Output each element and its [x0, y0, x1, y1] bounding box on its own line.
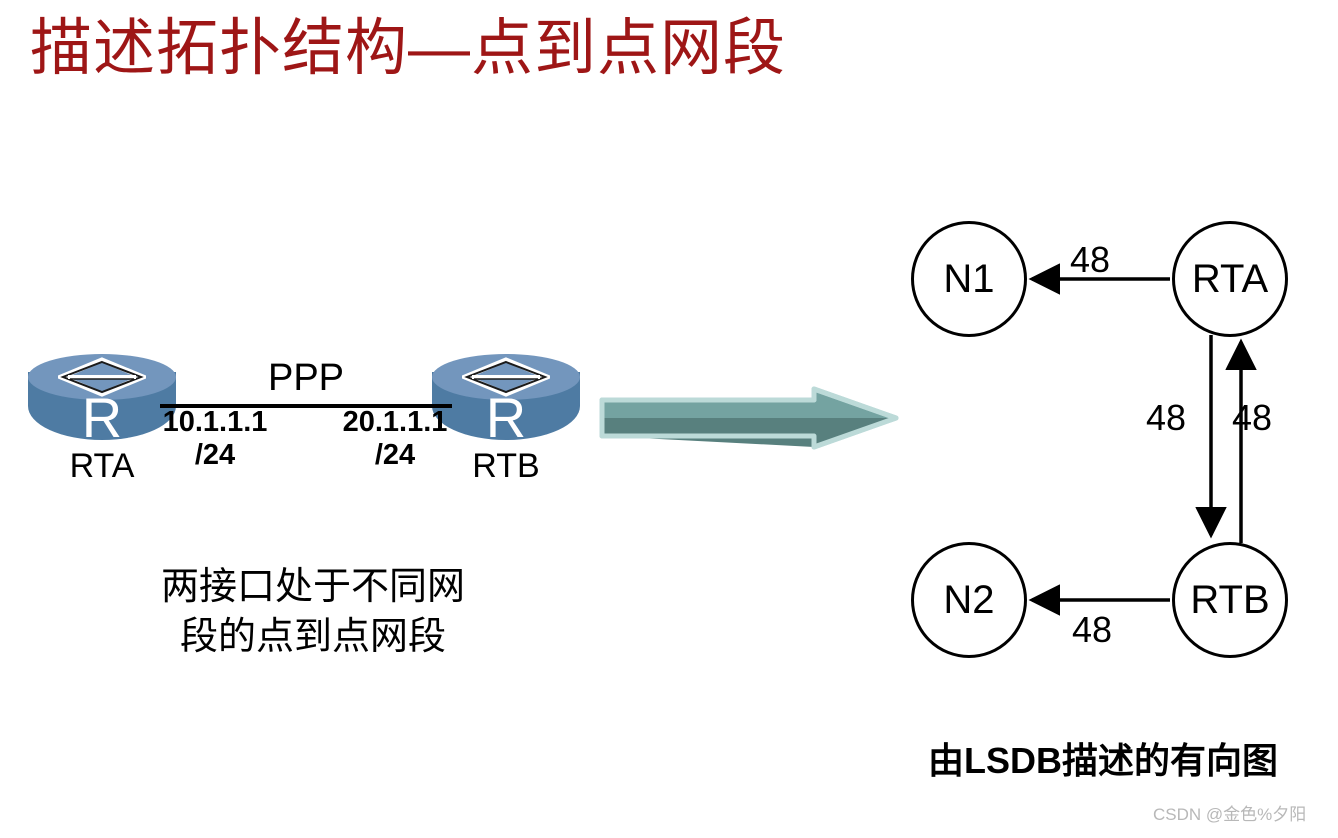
graph-node-label: RTB — [1190, 580, 1269, 620]
graph-node-label: RTA — [1192, 259, 1268, 299]
ip-label-rta: 10.1.1.1 /24 — [150, 406, 280, 472]
watermark: CSDN @金色%夕阳 — [1153, 805, 1306, 825]
graph-node-n1: N1 — [911, 221, 1027, 337]
topology-note-line2: 段的点到点网段 — [108, 612, 518, 662]
ip-mask-rta: /24 — [150, 439, 280, 472]
ip-mask-rtb: /24 — [330, 439, 460, 472]
topology-note: 两接口处于不同网 段的点到点网段 — [108, 562, 518, 662]
edge-cost-rtb-n2: 48 — [1072, 612, 1112, 648]
right-block-arrow-icon — [598, 386, 900, 450]
graph-node-n2: N2 — [911, 542, 1027, 658]
edge-cost-rta-n1: 48 — [1070, 242, 1110, 278]
edge-cost-rta-rtb: 48 — [1146, 400, 1186, 436]
graph-node-label: N2 — [943, 580, 994, 620]
graph-caption: 由LSDB描述的有向图 — [928, 740, 1278, 782]
ip-label-rtb: 20.1.1.1 /24 — [330, 406, 460, 472]
page-title: 描述拓扑结构—点到点网段 — [30, 10, 786, 88]
ip-address-rta: 10.1.1.1 — [150, 406, 280, 439]
graph-node-rta: RTA — [1172, 221, 1288, 337]
graph-node-rtb: RTB — [1172, 542, 1288, 658]
lsdb-directed-graph: N1 RTA N2 RTB 48 48 48 48 — [880, 200, 1320, 680]
ip-address-rtb: 20.1.1.1 — [330, 406, 460, 439]
topology-note-line1: 两接口处于不同网 — [108, 562, 518, 612]
slide-canvas: 描述拓扑结构—点到点网段 R RTA R RTB PPP 10.1.1.1 /2… — [0, 0, 1338, 838]
edge-cost-rtb-rta: 48 — [1232, 400, 1272, 436]
graph-node-label: N1 — [943, 259, 994, 299]
ppp-protocol-label: PPP — [160, 358, 452, 398]
